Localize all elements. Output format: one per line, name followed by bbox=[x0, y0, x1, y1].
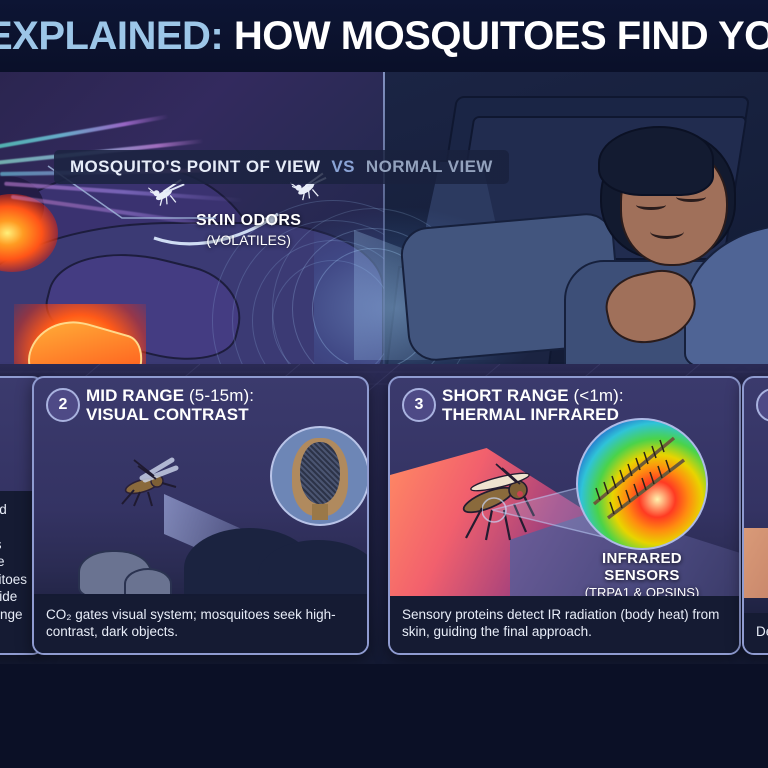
card2-inset-neck bbox=[312, 504, 328, 520]
closed-eye bbox=[636, 200, 666, 210]
view-toggle-right-label[interactable]: NORMAL VIEW bbox=[366, 157, 493, 177]
mouth bbox=[650, 224, 684, 239]
skin-odors-subtitle: (VOLATILES) bbox=[196, 232, 301, 248]
view-toggle-bar[interactable]: MOSQUITO'S POINT OF VIEW VS NORMAL VIEW bbox=[54, 150, 509, 184]
card3-title-text: SHORT RANGE bbox=[442, 386, 569, 405]
card2-title-line2: VISUAL CONTRAST bbox=[86, 405, 359, 424]
card2-inset-contrast-pattern bbox=[300, 442, 340, 504]
card3-title-line1: SHORT RANGE (<1m): bbox=[442, 386, 731, 405]
card2-title-text: MID RANGE bbox=[86, 386, 184, 405]
card2-title: MID RANGE (5-15m): VISUAL CONTRAST bbox=[86, 386, 359, 425]
card2-step-badge: 2 bbox=[46, 388, 80, 422]
view-toggle-left-label[interactable]: MOSQUITO'S POINT OF VIEW bbox=[70, 157, 320, 177]
card3-caption: Sensory proteins detect IR radiation (bo… bbox=[390, 596, 739, 653]
title-bar: EXPLAINED: HOW MOSQUITOES FIND YOU bbox=[0, 0, 768, 72]
view-divider bbox=[383, 72, 385, 364]
normal-view-panel bbox=[384, 72, 768, 364]
mosquito-glyph bbox=[112, 454, 184, 508]
card3-ir-label-line2: SENSORS bbox=[566, 567, 718, 584]
card2-title-line1: MID RANGE (5-15m): bbox=[86, 386, 359, 405]
card3-ir-label-line1: INFRARED bbox=[566, 550, 718, 567]
card3-step-badge: 3 bbox=[402, 388, 436, 422]
card3-thermal-inset bbox=[576, 418, 708, 550]
card3-antenna-art bbox=[578, 420, 706, 548]
closed-eye bbox=[676, 192, 706, 202]
hero-split-scene: SKIN ODORS (VOLATILES) bbox=[0, 72, 768, 364]
card-mid-range[interactable]: 2 MID RANGE (5-15m): VISUAL CONTRAST bbox=[32, 376, 369, 655]
card2-inset-circle bbox=[270, 426, 369, 526]
card2-title-range: (5-15m): bbox=[189, 386, 254, 405]
card4-step-badge: 4 bbox=[756, 388, 768, 422]
card3-title-range: (<1m): bbox=[574, 386, 624, 405]
card2-caption: CO₂ gates visual system; mosquitoes seek… bbox=[34, 596, 367, 653]
title-main: HOW MOSQUITOES FIND YOU bbox=[234, 14, 768, 58]
card4-caption: De… sk… bbox=[744, 613, 768, 653]
card3-title: SHORT RANGE (<1m): THERMAL INFRARED bbox=[442, 386, 731, 425]
card2-mosquito-icon bbox=[112, 454, 184, 513]
hair-front bbox=[598, 126, 714, 196]
view-toggle-vs-label: VS bbox=[331, 157, 354, 177]
title-prefix: EXPLAINED: bbox=[0, 14, 223, 58]
card-contact[interactable]: 4 De… sk… bbox=[742, 376, 768, 655]
card-short-range[interactable]: 3 SHORT RANGE (<1m): THERMAL INFRARED bbox=[388, 376, 741, 655]
card4-skin-art bbox=[744, 528, 768, 598]
infographic-canvas: EXPLAINED: HOW MOSQUITOES FIND YOU bbox=[0, 0, 768, 768]
page-title: EXPLAINED: HOW MOSQUITOES FIND YOU bbox=[0, 16, 768, 56]
flow-summary-bar: CO2 (ACTIVATION & LONG-RANGE NAVIGATION)… bbox=[0, 664, 768, 768]
card3-infrared-label: INFRARED SENSORS (TRPA1 & OPSINS) bbox=[566, 550, 718, 600]
